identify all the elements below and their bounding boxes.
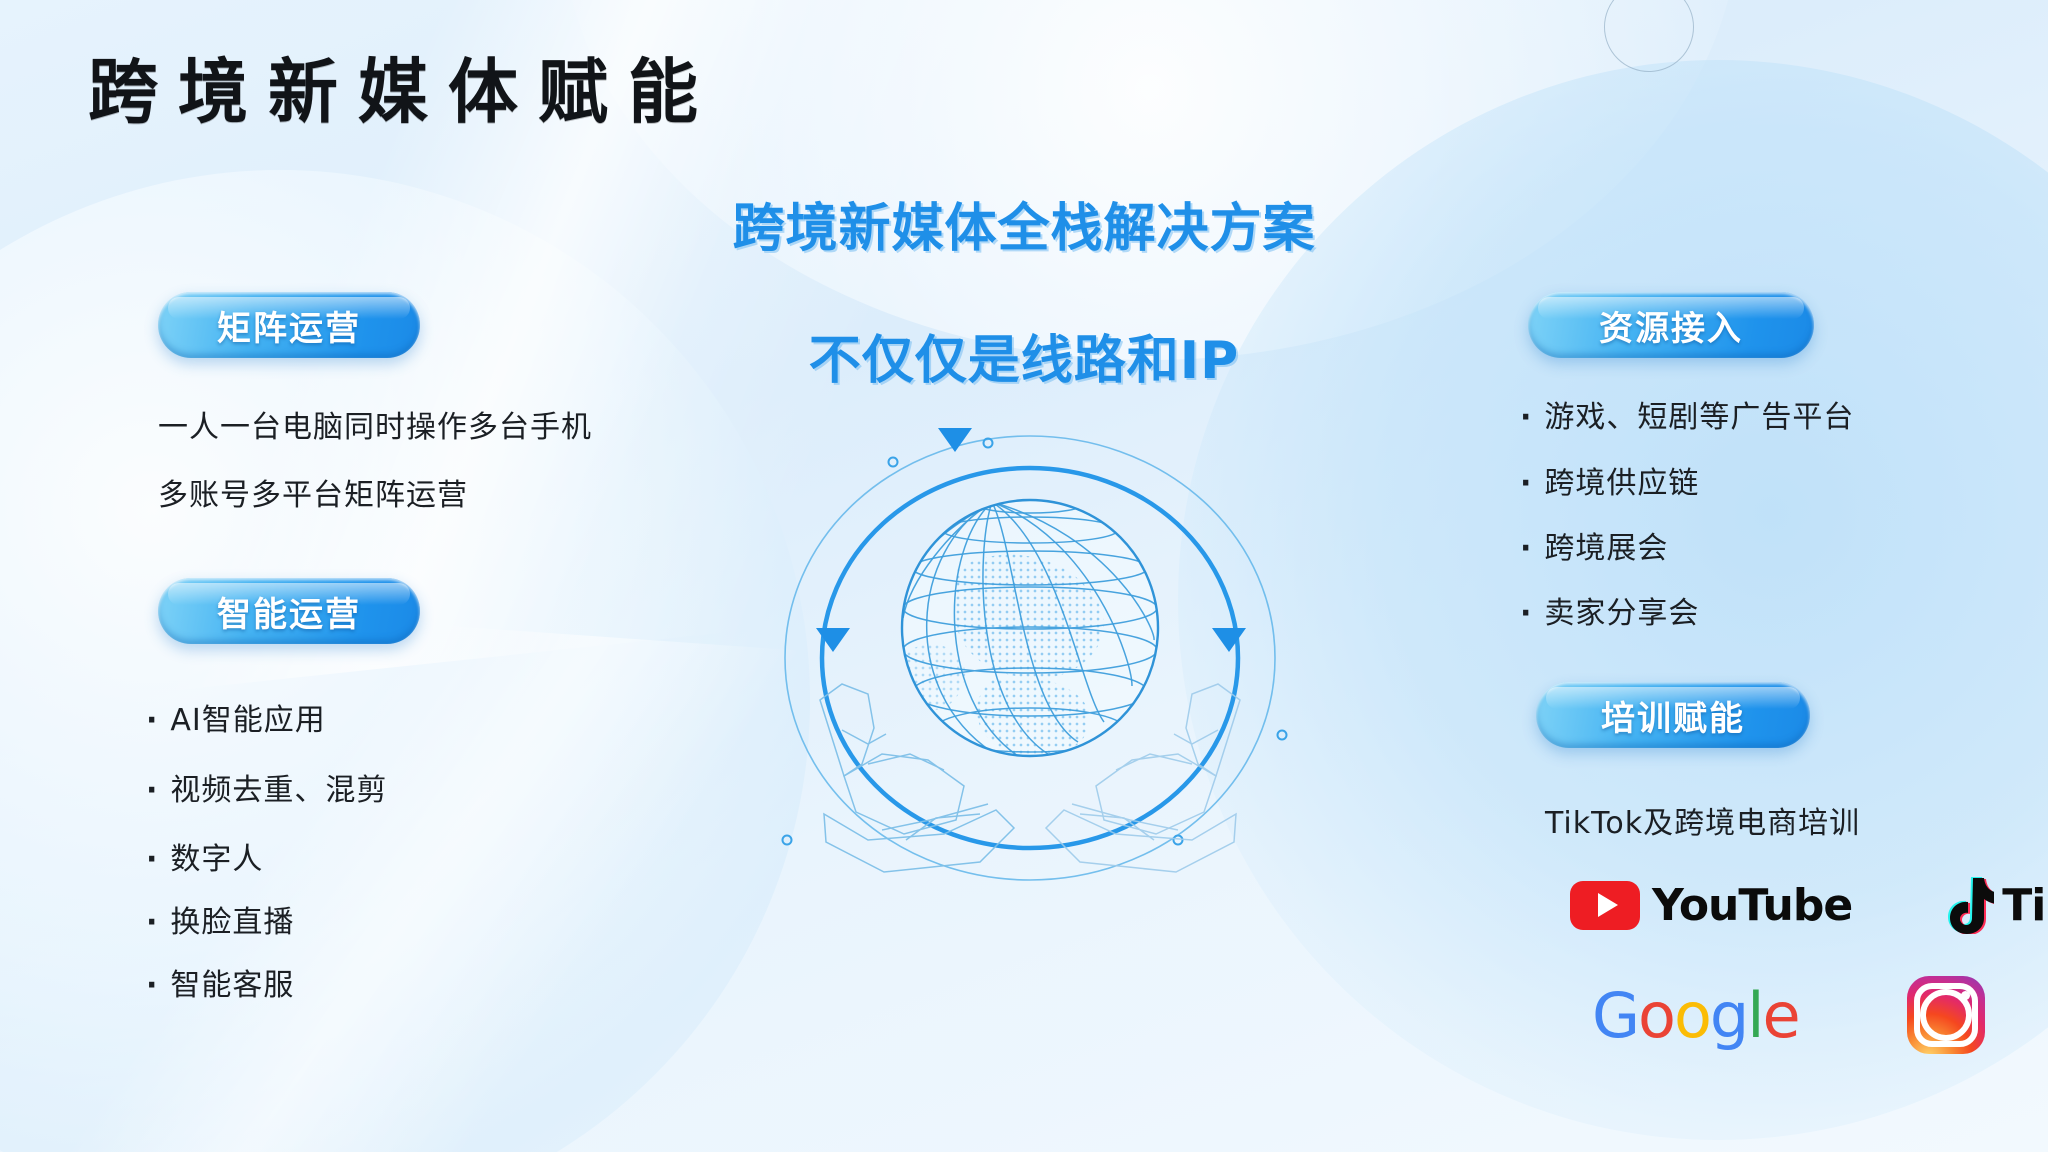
youtube-logo: YouTube (1570, 880, 1852, 931)
left-item-0-1: 多账号多平台矩阵运营 (158, 470, 468, 514)
pill-resource-access-label: 资源接入 (1599, 301, 1743, 350)
tiktok-logo-label: TikTok (2002, 880, 2048, 931)
left-item-1-1: 视频去重、混剪 (146, 765, 387, 809)
left-item-1-2: 数字人 (146, 834, 263, 878)
pill-resource-access[interactable]: 资源接入 (1528, 292, 1814, 358)
tiktok-note-icon (1940, 876, 1994, 934)
globe-in-hands-illustration (760, 400, 1300, 900)
pill-matrix-operation[interactable]: 矩阵运营 (158, 292, 420, 358)
instagram-dot-icon (1961, 991, 1970, 1000)
youtube-logo-label: YouTube (1652, 880, 1852, 931)
center-heading-primary: 跨境新媒体全栈解决方案 (0, 186, 2048, 261)
orbit-node (1278, 731, 1287, 740)
page-title: 跨境新媒体赋能 (88, 36, 718, 137)
left-item-1-4: 智能客服 (146, 960, 294, 1004)
pill-training-empowerment[interactable]: 培训赋能 (1536, 682, 1810, 748)
tiktok-logo: TikTok (1940, 876, 2048, 934)
wireframe-globe (898, 495, 1158, 756)
right-item-1-0: TikTok及跨境电商培训 (1545, 798, 1860, 842)
orbit-node (889, 458, 898, 467)
right-item-0-0: 游戏、短剧等广告平台 (1520, 392, 1854, 436)
left-item-0-0: 一人一台电脑同时操作多台手机 (158, 402, 592, 446)
left-item-1-0: AI智能应用 (146, 695, 326, 739)
logo-row-top: YouTube TikTok (1570, 876, 2048, 934)
google-logo: Google (1592, 979, 1799, 1052)
right-item-0-2: 跨境展会 (1520, 523, 1668, 567)
right-item-0-1: 跨境供应链 (1520, 458, 1699, 502)
pill-training-empowerment-label: 培训赋能 (1601, 691, 1745, 740)
orbit-node (1174, 836, 1183, 845)
pill-smart-operation-label: 智能运营 (217, 587, 361, 636)
pill-smart-operation[interactable]: 智能运营 (158, 578, 420, 644)
decorative-circle-outline (1604, 0, 1694, 72)
instagram-logo (1907, 976, 1985, 1054)
right-item-0-3: 卖家分享会 (1520, 588, 1699, 632)
orbit-marker-triangle (1212, 628, 1246, 652)
orbit-node (783, 836, 792, 845)
pill-matrix-operation-label: 矩阵运营 (217, 301, 361, 350)
orbit-marker-triangle (938, 428, 972, 452)
logo-row-bottom: Google (1592, 976, 1985, 1054)
left-item-1-3: 换脸直播 (146, 897, 294, 941)
slide-canvas: 跨境新媒体赋能 跨境新媒体全栈解决方案 不仅仅是线路和IP (0, 0, 2048, 1152)
youtube-play-icon (1570, 881, 1640, 930)
